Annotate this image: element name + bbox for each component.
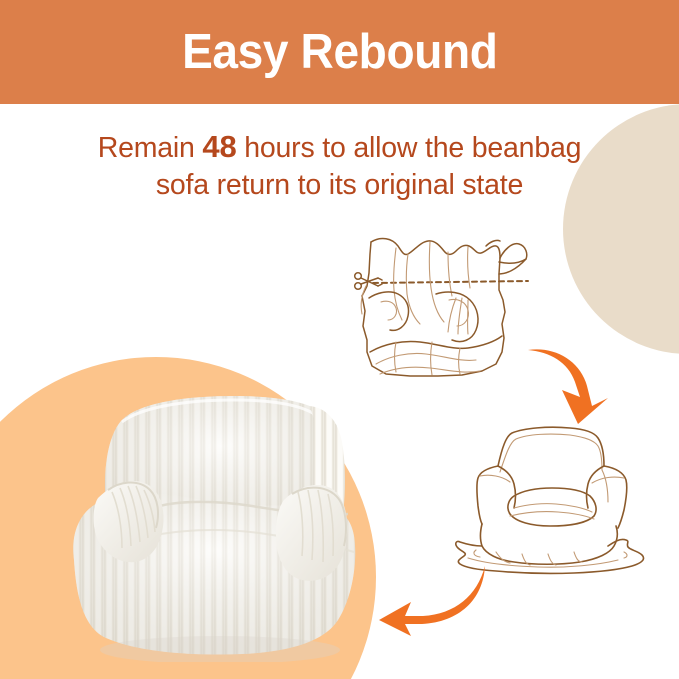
subtitle-hours-number: 48 (202, 129, 236, 164)
subtitle-line1-before: Remain (98, 132, 203, 164)
subtitle-line-2: sofa return to its original state (0, 167, 679, 204)
flow-arrow-down-icon (524, 344, 624, 426)
product-photo-beanbag-sofa (52, 380, 382, 662)
flow-arrow-left-icon (373, 558, 488, 638)
header-banner: Easy Rebound (0, 0, 679, 104)
subtitle-line-1: Remain 48 hours to allow the beanbag (0, 128, 679, 167)
subtitle-text: Remain 48 hours to allow the beanbag sof… (0, 128, 679, 204)
easy-rebound-infographic: Easy Rebound Remain 48 hours to allow th… (0, 0, 679, 679)
page-title: Easy Rebound (182, 28, 497, 77)
subtitle-line1-after: hours to allow the beanbag (237, 132, 582, 164)
vacuum-bag-sketch-icon (336, 228, 556, 388)
